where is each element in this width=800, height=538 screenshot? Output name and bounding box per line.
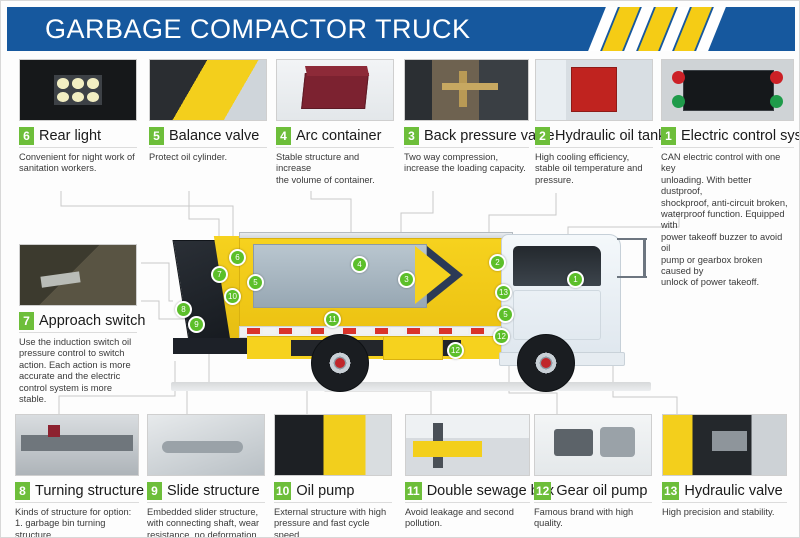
callout-card-12[interactable]: 12 Gear oil pump Famous brand with high …: [534, 414, 652, 530]
callout-thumbnail-double-sewage-box: [405, 414, 530, 476]
callout-thumbnail-slide-structure: [147, 414, 265, 476]
callout-desc-12: Famous brand with high quality.: [534, 507, 652, 530]
callout-desc-9: Embedded slider structure, with connecti…: [147, 507, 265, 538]
callout-thumbnail-back-pressure-valve: [404, 59, 529, 121]
callout-badge-12: 12: [534, 482, 551, 500]
truck-marker-6[interactable]: 6: [229, 249, 246, 266]
callout-title-12: Gear oil pump: [556, 483, 647, 499]
truck-mirror: [643, 238, 646, 278]
truck-marker-10[interactable]: 10: [224, 288, 241, 305]
callout-badge-13: 13: [662, 482, 679, 500]
callout-badge-6: 6: [19, 127, 34, 145]
callout-badge-9: 9: [147, 482, 162, 500]
callout-card-3[interactable]: 3 Back pressure valve Two way compressio…: [404, 59, 529, 175]
callout-badge-8: 8: [15, 482, 30, 500]
truck-marker-1[interactable]: 1: [567, 271, 584, 288]
callout-badge-2: 2: [535, 127, 550, 145]
callout-badge-4: 4: [276, 127, 291, 145]
callout-desc-4: Stable structure and increase the volume…: [276, 152, 394, 186]
callout-thumbnail-balance-valve: [149, 59, 267, 121]
callout-title-7: Approach switch: [39, 313, 145, 329]
callout-badge-7: 7: [19, 312, 34, 330]
truck-marker-11[interactable]: 11: [324, 311, 341, 328]
callout-card-8[interactable]: 8 Turning structure Kinds of structure f…: [15, 414, 139, 538]
callout-badge-1: 1: [661, 127, 676, 145]
callout-thumbnail-approach-switch: [19, 244, 137, 306]
truck-marker-4[interactable]: 4: [351, 256, 368, 273]
callout-title-2: Hydraulic oil tank: [555, 128, 665, 144]
truck-marker-7[interactable]: 7: [211, 266, 228, 283]
truck-marker-3[interactable]: 3: [398, 271, 415, 288]
callout-desc-13: High precision and stability.: [662, 507, 787, 518]
callout-thumbnail-hydraulic-oil-tank: [535, 59, 653, 121]
callout-title-8: Turning structure: [35, 483, 144, 499]
callout-desc-6: Convenient for night work of sanitation …: [19, 152, 137, 175]
callout-card-4[interactable]: 4 Arc container Stable structure and inc…: [276, 59, 394, 186]
truck-marker-13[interactable]: 13: [495, 284, 512, 301]
truck-cab-door: [513, 290, 601, 340]
callout-desc-11: Avoid leakage and second pollution.: [405, 507, 530, 530]
callout-title-1: Electric control system: [681, 128, 800, 144]
callout-desc-8: Kinds of structure for option: 1. garbag…: [15, 507, 139, 538]
callout-thumbnail-oil-pump: [274, 414, 392, 476]
callout-title-4: Arc container: [296, 128, 381, 144]
callout-desc-7: Use the induction switch oil pressure co…: [19, 337, 137, 405]
callout-title-13: Hydraulic valve: [684, 483, 782, 499]
truck-marker-5[interactable]: 5: [497, 306, 514, 323]
callout-card-1[interactable]: 1 Electric control system CAN electric c…: [661, 59, 794, 289]
callout-card-13[interactable]: 13 Hydraulic valve High precision and st…: [662, 414, 787, 518]
callout-card-10[interactable]: 10 Oil pump External structure with high…: [274, 414, 392, 538]
callout-badge-3: 3: [404, 127, 419, 145]
truck-fuel-tank: [383, 336, 443, 360]
truck-mirror-arm-bottom: [617, 276, 647, 278]
callout-thumbnail-hydraulic-valve: [662, 414, 787, 476]
callout-badge-10: 10: [274, 482, 291, 500]
callout-card-9[interactable]: 9 Slide structure Embedded slider struct…: [147, 414, 265, 538]
truck-front-wheel: [517, 334, 575, 392]
callout-badge-11: 11: [405, 482, 422, 500]
callout-thumbnail-gear-oil-pump: [534, 414, 652, 476]
callout-thumbnail-electric-control-system: [661, 59, 794, 121]
callout-card-6[interactable]: 6 Rear light Convenient for night work o…: [19, 59, 137, 175]
callout-thumbnail-arc-container: [276, 59, 394, 121]
page-title: GARBAGE COMPACTOR TRUCK: [45, 14, 471, 45]
callout-title-6: Rear light: [39, 128, 101, 144]
callout-card-11[interactable]: 11 Double sewage box Avoid leakage and s…: [405, 414, 530, 530]
truck-marker-12[interactable]: 12: [493, 328, 510, 345]
truck-marker-12[interactable]: 12: [447, 342, 464, 359]
callout-card-2[interactable]: 2 Hydraulic oil tank High cooling effici…: [535, 59, 653, 186]
callout-title-9: Slide structure: [167, 483, 260, 499]
callout-desc-1: CAN electric control with one key unload…: [661, 152, 794, 289]
callout-thumbnail-rear-light: [19, 59, 137, 121]
header-stripes-decoration: [587, 7, 787, 51]
truck-chevron-yellow: [415, 246, 451, 304]
callout-title-5: Balance valve: [169, 128, 259, 144]
infographic-page: GARBAGE COMPACTOR TRUCK: [0, 0, 800, 538]
truck-marker-5[interactable]: 5: [247, 274, 264, 291]
truck-windshield: [513, 246, 601, 286]
truck-marker-9[interactable]: 9: [188, 316, 205, 333]
ground-shadow: [171, 382, 651, 391]
callout-thumbnail-turning-structure: [15, 414, 139, 476]
page-header: GARBAGE COMPACTOR TRUCK: [7, 7, 795, 51]
truck-illustration: 67510894311122135121: [151, 216, 671, 401]
truck-rear-wheel: [311, 334, 369, 392]
callout-title-10: Oil pump: [296, 483, 354, 499]
callout-desc-10: External structure with high pressure an…: [274, 507, 392, 538]
callout-desc-5: Protect oil cylinder.: [149, 152, 267, 163]
callout-badge-5: 5: [149, 127, 164, 145]
truck-marker-8[interactable]: 8: [175, 301, 192, 318]
callout-card-7[interactable]: 7 Approach switch Use the induction swit…: [19, 244, 137, 405]
callout-desc-3: Two way compression, increase the loadin…: [404, 152, 529, 175]
callout-card-5[interactable]: 5 Balance valve Protect oil cylinder.: [149, 59, 267, 163]
truck-marker-2[interactable]: 2: [489, 254, 506, 271]
callout-desc-2: High cooling efficiency, stable oil temp…: [535, 152, 653, 186]
